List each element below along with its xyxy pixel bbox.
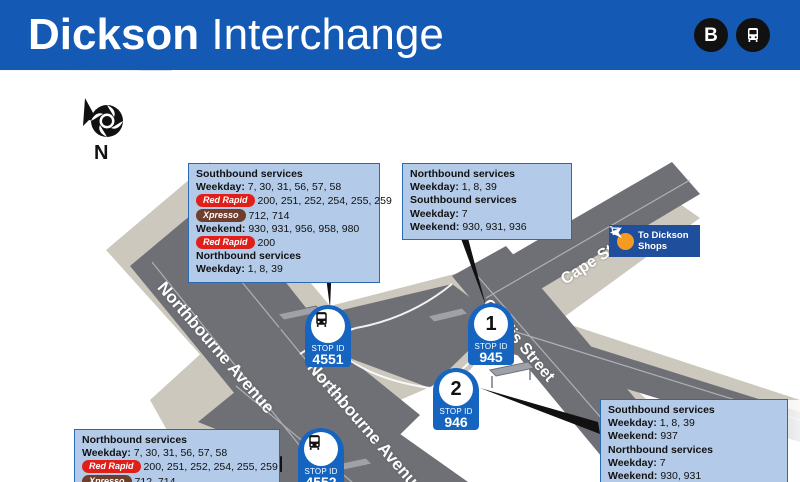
service-route-numbers: 200, 251, 252, 254, 255, 259 [144, 461, 278, 473]
service-route-numbers: 712, 714 [135, 476, 176, 482]
shopping-cart-icon-circle [617, 233, 634, 250]
service-direction-heading: Northbound services [82, 434, 272, 447]
map-canvas: Northbourne Avenue Northbourne Avenue Ch… [0, 70, 800, 482]
service-day-label: Weekday: [608, 417, 660, 429]
service-day-label: Weekday: [196, 181, 248, 193]
service-day-entry: Weekday: 1, 8, 39 [410, 181, 564, 194]
to-dickson-shops-label: To DicksonShops [638, 230, 689, 252]
stop-marker-4551[interactable]: STOP ID 4551 [305, 305, 351, 367]
service-pill-entry: Red Rapid200 [196, 236, 372, 250]
platform-number: 2 [450, 379, 461, 399]
page-header: Dickson Interchange B [0, 0, 800, 70]
stop-marker-4552[interactable]: STOP ID 4552 [298, 428, 344, 482]
shopping-cart-icon [609, 225, 620, 236]
service-day-label: Weekend: [410, 221, 462, 233]
platform-number: 1 [485, 314, 496, 334]
service-day-label: Weekend: [608, 470, 660, 482]
service-direction-heading: Southbound services [196, 168, 372, 181]
info-box-northbound-bottom: Northbound servicesWeekday: 7, 30, 31, 5… [74, 429, 280, 482]
stop-platform-disc: 2 [439, 372, 473, 406]
service-pill-entry: Red Rapid200, 251, 252, 254, 255, 259 [82, 460, 272, 474]
info-box-southbound-bottom: Southbound servicesWeekday: 1, 8, 39Week… [600, 399, 788, 482]
service-day-label: Weekday: [608, 457, 660, 469]
service-heading-text: Northbound services [608, 444, 713, 456]
compass-rose-icon [72, 96, 136, 148]
service-day-entry: Weekend: 930, 931, 936 [410, 221, 564, 234]
service-route-numbers: 7 [660, 457, 666, 469]
page-title-bold: Dickson [28, 10, 199, 59]
service-route-numbers: 7 [462, 208, 468, 220]
stop-platform-disc: 1 [474, 307, 508, 341]
service-heading-text: Northbound services [82, 434, 187, 446]
stop-marker-945[interactable]: 1 STOP ID 945 [468, 303, 514, 365]
service-day-entry: Weekday: 1, 8, 39 [608, 417, 780, 430]
stop-id-number: 946 [433, 415, 479, 430]
service-day-label: Weekday: [410, 208, 462, 220]
info-box-southbound-top: Southbound servicesWeekday: 7, 30, 31, 5… [188, 163, 380, 283]
red-rapid-badge: Red Rapid [196, 236, 255, 249]
compass-rose: N [72, 96, 136, 170]
badge-letter-text: B [704, 26, 718, 45]
service-heading-text: Southbound services [608, 404, 715, 416]
stop-icon-disc [311, 309, 345, 343]
service-route-numbers: 930, 931, 936 [462, 221, 526, 233]
service-heading-text: Northbound services [410, 168, 515, 180]
service-direction-heading: Northbound services [410, 168, 564, 181]
service-route-numbers: 7, 30, 31, 56, 57, 58 [248, 181, 341, 193]
service-heading-text: Northbound services [196, 250, 301, 262]
service-day-entry: Weekend: 937 [608, 430, 780, 443]
xpresso-badge: Xpresso [196, 209, 246, 222]
compass-north-label: N [94, 143, 108, 163]
stop-id-number: 945 [468, 350, 514, 365]
shops-line-1: To Dickson [638, 230, 689, 241]
stop-id-number: 4551 [305, 352, 351, 367]
service-heading-text: Southbound services [410, 194, 517, 206]
service-day-entry: Weekday: 7, 30, 31, 56, 57, 58 [196, 181, 372, 194]
page-title-light: Interchange [211, 10, 443, 59]
service-route-numbers: 937 [660, 430, 678, 442]
info-box-northbound-top: Northbound servicesWeekday: 1, 8, 39Sout… [402, 163, 572, 240]
service-pill-entry: Xpresso712, 714 [82, 475, 272, 482]
service-heading-text: Southbound services [196, 168, 303, 180]
service-route-numbers: 712, 714 [249, 210, 290, 222]
service-direction-heading: Southbound services [410, 194, 564, 207]
service-route-numbers: 1, 8, 39 [660, 417, 695, 429]
badge-bus-icon-circle [736, 18, 770, 52]
service-day-label: Weekday: [196, 263, 248, 275]
bus-icon [311, 309, 332, 330]
service-pill-entry: Xpresso712, 714 [196, 209, 372, 223]
service-route-numbers: 200 [258, 237, 276, 249]
service-direction-heading: Southbound services [608, 404, 780, 417]
service-day-label: Weekday: [410, 181, 462, 193]
service-route-numbers: 1, 8, 39 [248, 263, 283, 275]
interchange-map-page: Dickson Interchange B [0, 0, 800, 482]
service-day-entry: Weekday: 7 [410, 208, 564, 221]
service-route-numbers: 7, 30, 31, 56, 57, 58 [134, 447, 227, 459]
service-route-numbers: 930, 931, 956, 958, 980 [248, 223, 359, 235]
service-day-label: Weekend: [608, 430, 660, 442]
bus-icon [304, 432, 325, 453]
stop-icon-disc [304, 432, 338, 466]
service-day-label: Weekend: [196, 223, 248, 235]
page-title: Dickson Interchange [28, 6, 444, 64]
stop-marker-946[interactable]: 2 STOP ID 946 [433, 368, 479, 430]
red-rapid-badge: Red Rapid [82, 460, 141, 473]
shops-line-2: Shops [638, 241, 667, 252]
service-day-entry: Weekday: 1, 8, 39 [196, 263, 372, 276]
service-day-entry: Weekday: 7 [608, 457, 780, 470]
to-dickson-shops-badge[interactable]: To DicksonShops [609, 225, 700, 257]
bus-icon [743, 25, 763, 45]
service-route-numbers: 930, 931 [660, 470, 701, 482]
service-pill-entry: Red Rapid200, 251, 252, 254, 255, 259 [196, 194, 372, 208]
service-direction-heading: Northbound services [196, 250, 372, 263]
service-route-numbers: 1, 8, 39 [462, 181, 497, 193]
service-day-entry: Weekend: 930, 931 [608, 470, 780, 482]
service-day-entry: Weekend: 930, 931, 956, 958, 980 [196, 223, 372, 236]
service-direction-heading: Northbound services [608, 444, 780, 457]
xpresso-badge: Xpresso [82, 475, 132, 482]
stop-id-number: 4552 [298, 475, 344, 482]
service-day-entry: Weekday: 7, 30, 31, 56, 57, 58 [82, 447, 272, 460]
badge-bus-letter: B [694, 18, 728, 52]
red-rapid-badge: Red Rapid [196, 194, 255, 207]
service-route-numbers: 200, 251, 252, 254, 255, 259 [258, 195, 392, 207]
service-day-label: Weekday: [82, 447, 134, 459]
